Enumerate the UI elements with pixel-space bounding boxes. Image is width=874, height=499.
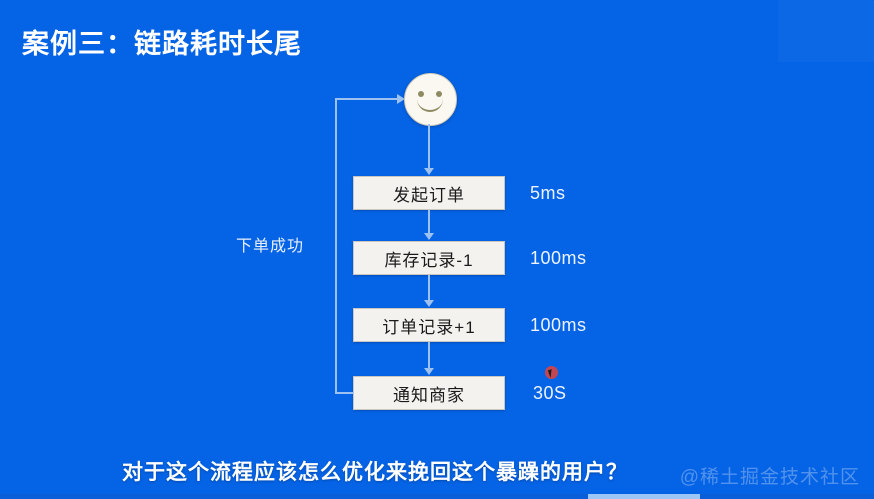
arrow-down-icon-step4 — [424, 368, 434, 375]
mouse-cursor-click-marker — [545, 366, 558, 379]
flow-node-step-2: 库存记录-1 — [353, 241, 505, 275]
connector-line-actor-to-step1 — [428, 124, 430, 169]
duration-label-step-2: 100ms — [530, 248, 587, 269]
flow-diagram: 发起订单 库存记录-1 订单记录+1 通知商家 下单成功 5ms 100ms 1… — [0, 0, 874, 455]
smiley-face-icon — [404, 73, 457, 126]
flow-node-step-1-label: 发起订单 — [393, 181, 465, 206]
flow-node-step-3: 订单记录+1 — [353, 308, 505, 342]
smiley-mouth-icon — [417, 96, 443, 112]
feedback-loop-bottom-segment — [335, 392, 354, 394]
flow-node-step-3-label: 订单记录+1 — [382, 313, 475, 338]
feedback-loop-top-segment — [335, 98, 401, 100]
connector-line-step1-to-step2 — [428, 210, 430, 234]
flow-node-step-4-label: 通知商家 — [393, 381, 465, 406]
arrow-down-icon-step1 — [424, 168, 434, 175]
arrow-down-icon-step2 — [424, 233, 434, 240]
duration-label-step-3: 100ms — [530, 315, 587, 336]
arrow-down-icon-step3 — [424, 300, 434, 307]
feedback-loop-label: 下单成功 — [236, 232, 304, 256]
duration-label-step-4: 30S — [533, 383, 567, 404]
flow-node-step-4: 通知商家 — [353, 376, 505, 410]
presentation-slide: 案例三：链路耗时长尾 发起订单 库存记录-1 订单记录+1 通知商家 — [0, 0, 874, 499]
feedback-loop-vertical-segment — [335, 98, 337, 394]
video-progress-bar[interactable] — [0, 494, 874, 499]
duration-label-step-1: 5ms — [530, 183, 566, 204]
arrow-right-icon-feedback — [397, 94, 405, 104]
flow-node-step-2-label: 库存记录-1 — [384, 246, 473, 271]
connector-line-step3-to-step4 — [428, 342, 430, 369]
video-progress-buffered-chunk — [588, 494, 700, 499]
channel-watermark: @稀土掘金技术社区 — [680, 462, 860, 489]
subtitle-caption-text: 对于这个流程应该怎么优化来挽回这个暴躁的用户？ — [122, 456, 628, 486]
connector-line-step2-to-step3 — [428, 275, 430, 301]
flow-node-step-1: 发起订单 — [353, 176, 505, 210]
